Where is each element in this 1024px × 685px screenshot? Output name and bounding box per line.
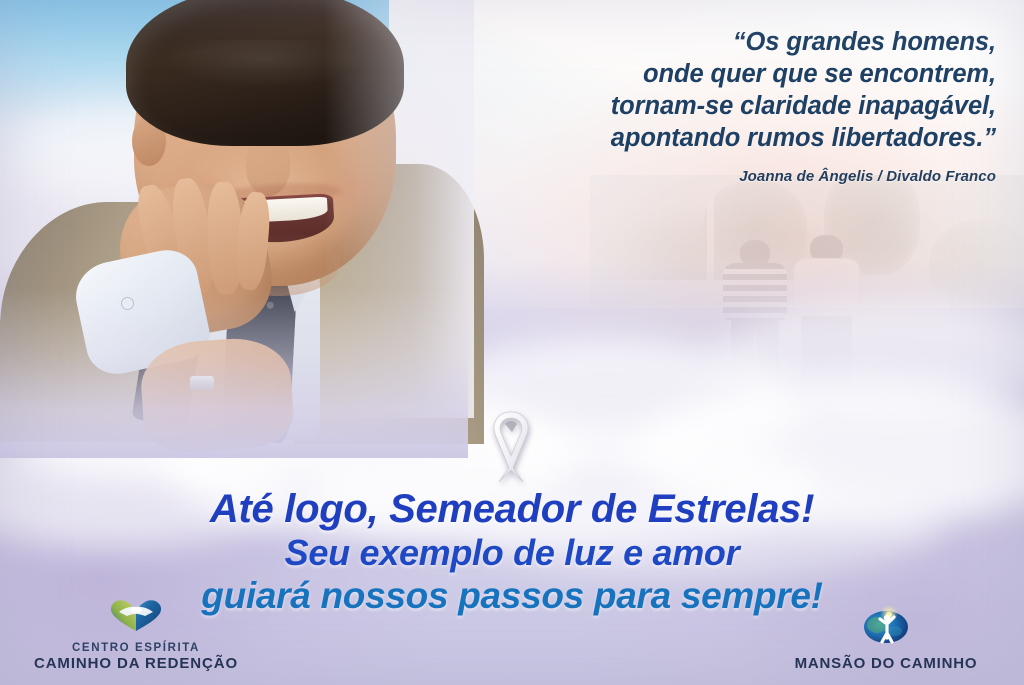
quote-line-3: tornam-se claridade inapagável, bbox=[356, 90, 996, 122]
quote-line-4: apontando rumos libertadores.” bbox=[356, 122, 996, 154]
quote-line-2: onde quer que se encontrem, bbox=[356, 58, 996, 90]
logo-centro-espirita: CENTRO ESPÍRITA CAMINHO DA REDENÇÃO bbox=[0, 598, 272, 673]
quote-text: “Os grandes homens, onde quer que se enc… bbox=[356, 26, 996, 154]
white-ribbon-icon bbox=[479, 404, 543, 486]
hands-heart-icon bbox=[0, 598, 272, 637]
logo-right-line-2: MANSÃO DO CAMINHO bbox=[750, 655, 1022, 673]
logo-left-line-1: CENTRO ESPÍRITA bbox=[0, 641, 272, 655]
logo-mansao-do-caminho: MANSÃO DO CAMINHO bbox=[750, 606, 1022, 673]
headline-line-1: Até logo, Semeador de Estrelas! bbox=[0, 486, 1024, 532]
logo-left-line-2: CAMINHO DA REDENÇÃO bbox=[0, 655, 272, 673]
headline-line-2: Seu exemplo de luz e amor bbox=[0, 532, 1024, 574]
quote-attribution: Joanna de Ângelis / Divaldo Franco bbox=[356, 168, 996, 185]
memorial-poster: “Os grandes homens, onde quer que se enc… bbox=[0, 0, 1024, 685]
globe-figure-icon bbox=[750, 606, 1022, 651]
quote-line-1: “Os grandes homens, bbox=[356, 26, 996, 58]
